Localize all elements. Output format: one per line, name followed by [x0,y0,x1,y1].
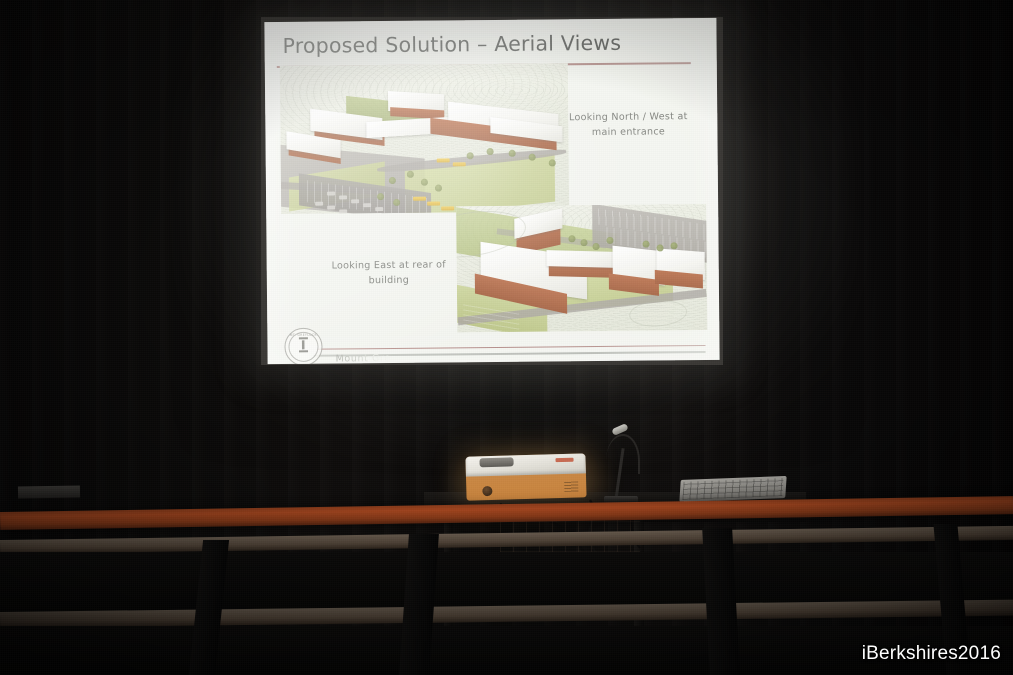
tree [580,239,587,246]
projector-lens-hood [479,457,513,467]
slide-footer-organization: Mount Gre [336,353,391,364]
slide-footer-rule-maroon [318,345,706,350]
tree [435,184,442,191]
auditorium-photo: Proposed Solution – Aerial Views [0,0,1013,675]
school-bus [441,206,454,210]
school-seal-logo: MT. GREYLOCK [284,328,322,365]
parked-car [327,192,335,196]
parked-car [339,209,347,213]
tree [549,159,556,166]
projector-lens-knob [482,486,492,496]
school-bus [437,158,450,162]
parked-car [315,202,323,206]
tree [593,243,600,250]
aerial-rendering-north-west [280,63,569,214]
tree [606,237,613,244]
school-bus [453,162,466,166]
tree [393,199,400,206]
projector-brand-badge [555,458,573,463]
parked-car [363,203,371,207]
parked-car [327,206,335,210]
laptop-keyboard [679,476,786,502]
video-projector [465,453,586,500]
parked-car [339,195,347,199]
tree [509,150,516,157]
gooseneck-microphone [596,424,656,500]
slide-title: Proposed Solution – Aerial Views [282,31,621,58]
presentation-slide: Proposed Solution – Aerial Views [264,18,719,364]
tree [671,242,678,249]
tree [568,235,575,242]
school-bus [427,201,440,205]
tree [407,171,414,178]
keyboard-keys [682,478,783,500]
tree [487,148,494,155]
tree [467,152,474,159]
papers-on-rail [18,485,80,498]
caption-looking-east-rear: Looking East at rear of building [329,258,449,289]
parked-car [375,207,383,211]
tree [657,244,664,251]
tree [377,193,384,200]
caption-looking-north-west: Looking North / West at main entrance [565,110,691,141]
tree [529,154,536,161]
parked-car [351,199,359,203]
seal-emblem-lamp-icon [299,337,308,352]
tree [642,240,649,247]
aerial-rendering-east-rear [456,204,707,332]
school-bus [413,197,426,201]
photo-watermark: iBerkshires2016 [862,643,1001,665]
projector-vent [564,482,578,492]
tree [389,177,396,184]
tree [421,179,428,186]
